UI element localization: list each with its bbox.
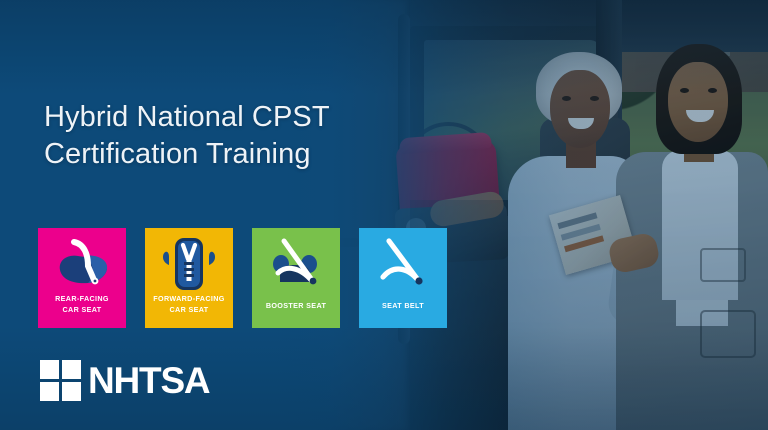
headline-line-1: Hybrid National CPST	[44, 101, 330, 133]
grid-block	[62, 382, 81, 401]
restraint-type-cards: REAR-FACING CAR SEAT FORWARD	[38, 228, 447, 328]
grid-block	[62, 360, 81, 379]
card-rear-facing-car-seat[interactable]: REAR-FACING CAR SEAT	[38, 228, 126, 328]
seat-belt-icon	[359, 228, 447, 294]
grid-block	[40, 360, 59, 379]
page-title: Hybrid National CPST Certification Train…	[44, 99, 394, 173]
booster-seat-icon	[252, 228, 340, 294]
training-banner: Hybrid National CPST Certification Train…	[0, 0, 768, 430]
card-label-line-2: CAR SEAT	[169, 305, 208, 314]
headline-line-2: Certification Training	[44, 138, 311, 170]
card-label-line-2: CAR SEAT	[62, 305, 101, 314]
rear-facing-car-seat-icon	[38, 228, 126, 294]
card-label: BOOSTER SEAT	[252, 301, 340, 312]
card-label: SEAT BELT	[359, 301, 447, 312]
nhtsa-grid-mark-icon	[40, 360, 81, 401]
card-label-line-1: BOOSTER SEAT	[266, 301, 326, 310]
card-label: FORWARD-FACING CAR SEAT	[145, 294, 233, 316]
card-label-line-1: SEAT BELT	[382, 301, 424, 310]
nhtsa-logo[interactable]: NHTSA	[40, 360, 209, 401]
card-forward-facing-car-seat[interactable]: FORWARD-FACING CAR SEAT	[145, 228, 233, 328]
card-seat-belt[interactable]: SEAT BELT	[359, 228, 447, 328]
card-label-line-1: FORWARD-FACING	[153, 294, 224, 303]
card-booster-seat[interactable]: BOOSTER SEAT	[252, 228, 340, 328]
card-label-line-1: REAR-FACING	[55, 294, 109, 303]
grid-block	[40, 382, 59, 401]
nhtsa-wordmark: NHTSA	[88, 362, 209, 399]
card-label: REAR-FACING CAR SEAT	[38, 294, 126, 316]
forward-facing-car-seat-icon	[145, 228, 233, 294]
